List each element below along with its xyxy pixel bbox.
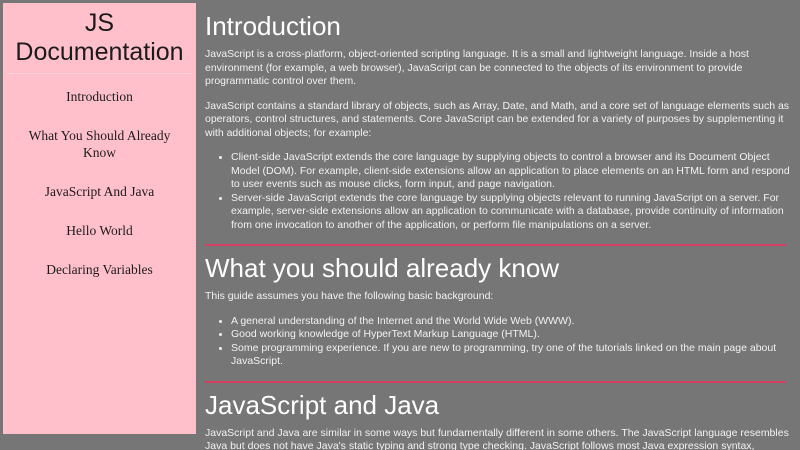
sidebar-item-introduction[interactable]: Introduction	[3, 88, 196, 105]
sidebar-navbar: JS Documentation Introduction What You S…	[3, 3, 196, 434]
list-item: Some programming experience. If you are …	[231, 342, 790, 369]
sidebar-item-hello-world[interactable]: Hello World	[3, 222, 196, 239]
list-item: A general understanding of the Internet …	[231, 315, 790, 329]
section-heading: JavaScript and Java	[205, 389, 790, 421]
list-item: Client-side JavaScript extends the core …	[231, 151, 790, 192]
section-introduction: Introduction JavaScript is a cross-platf…	[205, 10, 790, 232]
section-bullet-list: A general understanding of the Internet …	[205, 315, 790, 369]
sidebar-links: Introduction What You Should Already Kno…	[3, 74, 196, 278]
page-root: JS Documentation Introduction What You S…	[0, 0, 800, 450]
section-javascript-and-java: JavaScript and Java JavaScript and Java …	[205, 381, 790, 450]
sidebar-item-declaring-variables[interactable]: Declaring Variables	[3, 261, 196, 278]
section-heading: What you should already know	[205, 252, 790, 284]
sidebar-title: JS Documentation	[9, 9, 190, 67]
section-paragraph: JavaScript contains a standard library o…	[205, 100, 790, 141]
section-paragraph: JavaScript is a cross-platform, object-o…	[205, 48, 790, 89]
main-document: Introduction JavaScript is a cross-platf…	[200, 0, 800, 450]
section-heading: Introduction	[205, 10, 790, 42]
sidebar-item-javascript-and-java[interactable]: JavaScript And Java	[3, 183, 196, 200]
section-bullet-list: Client-side JavaScript extends the core …	[205, 151, 790, 232]
sidebar-item-what-you-should-already-know[interactable]: What You Should Already Know	[3, 127, 196, 161]
sidebar-header: JS Documentation	[3, 3, 196, 67]
section-rule	[205, 381, 786, 383]
section-paragraph: This guide assumes you have the followin…	[205, 290, 790, 304]
section-rule	[205, 244, 786, 246]
list-item: Good working knowledge of HyperText Mark…	[231, 328, 790, 342]
section-what-you-should-already-know: What you should already know This guide …	[205, 244, 790, 369]
section-paragraph: JavaScript and Java are similar in some …	[205, 427, 790, 450]
list-item: Server-side JavaScript extends the core …	[231, 192, 790, 233]
